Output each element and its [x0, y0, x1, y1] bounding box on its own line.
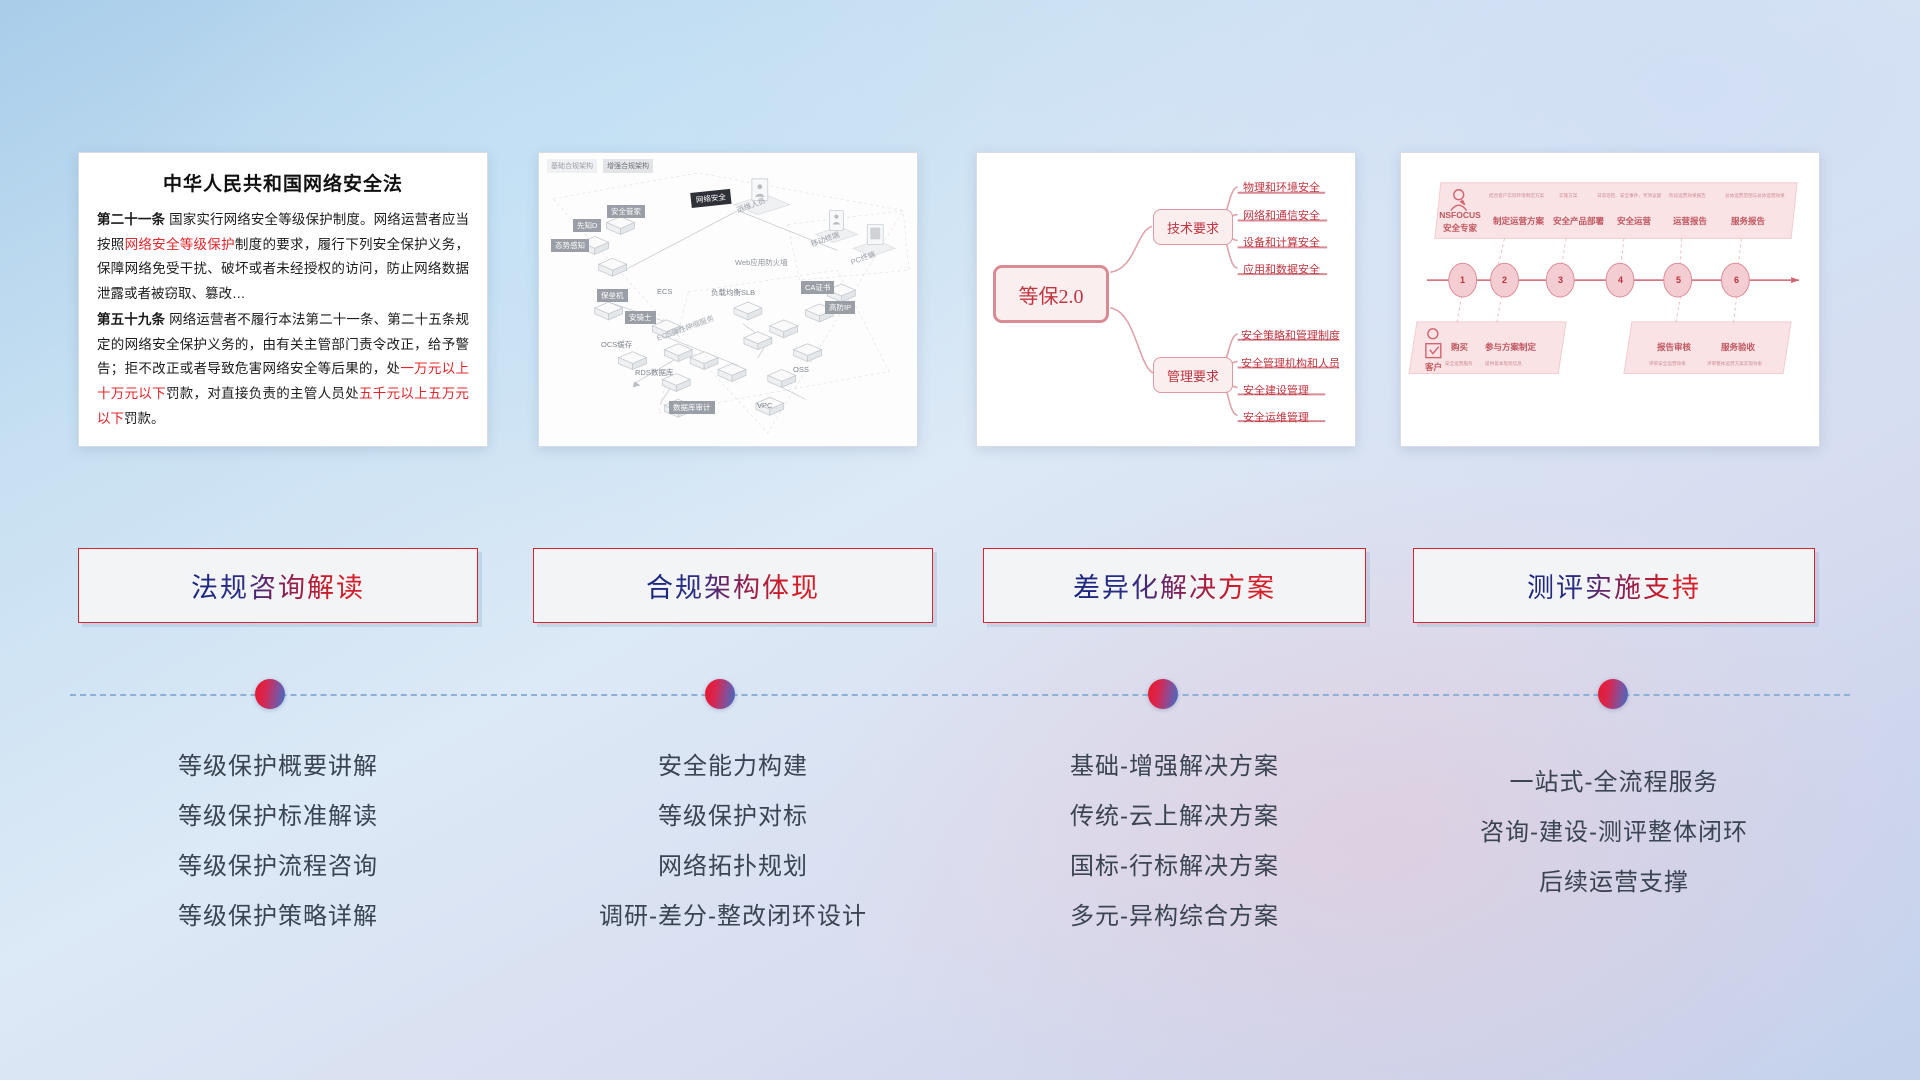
arch-node-ecs: ECS: [657, 287, 672, 296]
arch-node-rds-database: RDS数据库: [635, 367, 673, 378]
roadmap-bottom-sub-1: 安全运营服务: [1445, 361, 1473, 367]
mindmap-leaf-policy-system: 安全策略和管理制度: [1241, 327, 1340, 345]
article-21-label: 第二十一条: [97, 212, 165, 227]
list-item: 等级保护流程咨询: [78, 842, 478, 892]
law-article-59: 第五十九条 网络运营者不履行本法第二十一条、第二十五条规定的网络安全保护义务的，…: [97, 308, 469, 431]
headline-box-differentiated-solution[interactable]: 差异化解决方案: [983, 548, 1366, 623]
roadmap-top-main-1: 制定运营方案: [1493, 215, 1544, 227]
arch-node-slb: 负载均衡SLB: [711, 287, 755, 298]
arch-node-ocs-cache: OCS缓存: [601, 339, 632, 350]
feature-list-column-4: 一站式-全流程服务 咨询-建设-测评整体闭环 后续运营支撑: [1413, 758, 1815, 908]
mindmap-diagram: 等保2.0 技术要求 管理要求 物理和环境安全 网络和通信安全 设备和计算安全 …: [977, 153, 1355, 446]
roadmap-top-main-4: 运营报告: [1673, 215, 1707, 227]
roadmap-top-sub-1: 结合客户实际环境制定方案: [1489, 193, 1544, 199]
arch-node-situation-awareness: 态势感知: [551, 239, 589, 252]
list-item: 安全能力构建: [533, 742, 933, 792]
roadmap-expert-label-2: 安全专家: [1437, 222, 1483, 234]
mindmap-branch-management: 管理要求: [1153, 357, 1233, 393]
article-59-text-2: 罚款，对直接负责的主管人员处: [166, 386, 359, 401]
arch-node-xianzhi: 先知D: [573, 219, 601, 232]
mindmap-leaf-network-comm: 网络和通信安全: [1243, 207, 1320, 225]
mindmap-root-node: 等保2.0: [993, 265, 1109, 323]
list-item: 调研-差分-整改闭环设计: [533, 892, 933, 942]
list-item: 等级保护对标: [533, 792, 933, 842]
timeline-dot-1: [255, 679, 285, 709]
roadmap-step-2: 2: [1502, 275, 1507, 285]
arch-node-anti-ddos-ip: 高防IP: [825, 301, 855, 314]
list-item: 等级保护标准解读: [78, 792, 478, 842]
timeline-dot-3: [1148, 679, 1178, 709]
list-item: 多元-异构综合方案: [983, 892, 1366, 942]
article-59-text-3: 罚款。: [124, 411, 165, 426]
timeline-dashed-line: [70, 694, 1850, 696]
list-item: 国标-行标解决方案: [983, 842, 1366, 892]
roadmap-step-4: 4: [1618, 275, 1623, 285]
headline-box-evaluation-support[interactable]: 测评实施支持: [1413, 548, 1815, 623]
roadmap-step-1: 1: [1460, 275, 1465, 285]
mindmap-branch-technical: 技术要求: [1153, 209, 1233, 245]
list-item: 咨询-建设-测评整体闭环: [1413, 808, 1815, 858]
list-item: 一站式-全流程服务: [1413, 758, 1815, 808]
roadmap-bottom-sub-2: 提供基本现状信息: [1485, 361, 1522, 367]
mindmap-leaf-ops-mgmt: 安全运维管理: [1243, 409, 1309, 427]
headline-label-2: 合规架构体现: [646, 566, 820, 605]
feature-list-column-1: 等级保护概要讲解 等级保护标准解读 等级保护流程咨询 等级保护策略详解: [78, 742, 478, 942]
mindmap-leaf-app-data: 应用和数据安全: [1243, 261, 1320, 279]
roadmap-expert-label-1: NSFOCUS: [1437, 211, 1483, 220]
roadmap-top-sub-5: 总体运营范围与总体运营效果: [1725, 193, 1785, 199]
law-document-body: 中华人民共和国网络安全法 第二十一条 国家实行网络安全等级保护制度。网络运营者应…: [79, 153, 487, 441]
headline-box-compliance-architecture[interactable]: 合规架构体现: [533, 548, 933, 623]
headline-label-3: 差异化解决方案: [1073, 566, 1276, 605]
roadmap-bottom-main-2: 参与方案制定: [1485, 341, 1536, 353]
mindmap-leaf-physical-env: 物理和环境安全: [1243, 179, 1320, 197]
roadmap-customer-label: 客户: [1425, 361, 1442, 373]
card-mindmap: 等保2.0 技术要求 管理要求 物理和环境安全 网络和通信安全 设备和计算安全 …: [976, 152, 1356, 447]
mindmap-leaf-build-mgmt: 安全建设管理: [1243, 382, 1309, 400]
roadmap-step-6: 6: [1734, 275, 1739, 285]
arch-node-vpc: VPC: [757, 401, 772, 410]
article-59-label: 第五十九条: [97, 312, 165, 327]
architecture-diagram: 基础合规架构 增强合规架构: [539, 153, 917, 446]
roadmap-step-3: 3: [1558, 275, 1563, 285]
list-item: 后续运营支撑: [1413, 858, 1815, 908]
roadmap-top-sub-2: 实施方案: [1559, 193, 1577, 199]
roadmap-step-5: 5: [1676, 275, 1681, 285]
card-cloud-architecture: 基础合规架构 增强合规架构: [538, 152, 918, 447]
card-law-document: 中华人民共和国网络安全法 第二十一条 国家实行网络安全等级保护制度。网络运营者应…: [78, 152, 488, 447]
roadmap-bottom-main-4: 服务验收: [1721, 341, 1755, 353]
law-article-21: 第二十一条 国家实行网络安全等级保护制度。网络运营者应当按照网络安全等级保护制度…: [97, 208, 469, 306]
headline-label-4: 测评实施支持: [1527, 566, 1701, 605]
arch-node-waf: Web应用防火墙: [735, 257, 788, 268]
roadmap-bottom-main-3: 报告审核: [1657, 341, 1691, 353]
arch-node-oss: OSS: [793, 365, 809, 374]
roadmap-bottom-main-1: 购买: [1451, 341, 1468, 353]
timeline-dot-4: [1598, 679, 1628, 709]
roadmap-bottom-sub-3: 评审安全运营效果: [1649, 361, 1686, 367]
list-item: 等级保护概要讲解: [78, 742, 478, 792]
roadmap-top-sub-3: 日常巡检、安全事件、专项议题: [1597, 193, 1661, 199]
card-service-roadmap: NSFOCUS 安全专家 客户 结合客户实际环境制定方案 制定运营方案 实施方案…: [1400, 152, 1820, 447]
slide-canvas: 中华人民共和国网络安全法 第二十一条 国家实行网络安全等级保护制度。网络运营者应…: [0, 0, 1920, 1080]
mindmap-leaf-org-personnel: 安全管理机构和人员: [1241, 355, 1340, 373]
headline-label-1: 法规咨询解读: [191, 566, 365, 605]
feature-list-column-2: 安全能力构建 等级保护对标 网络拓扑规划 调研-差分-整改闭环设计: [533, 742, 933, 942]
roadmap-top-main-2: 安全产品部署: [1553, 215, 1604, 227]
arch-node-anqishi: 安骑士: [625, 311, 656, 324]
article-21-highlight: 网络安全等级保护: [125, 237, 235, 252]
arch-node-ca-certificate: CA证书: [801, 281, 834, 294]
law-title: 中华人民共和国网络安全法: [97, 169, 469, 196]
timeline-dot-2: [705, 679, 735, 709]
mindmap-leaf-device-compute: 设备和计算安全: [1243, 234, 1320, 252]
list-item: 等级保护策略详解: [78, 892, 478, 942]
roadmap-top-main-5: 服务报告: [1731, 215, 1765, 227]
list-item: 网络拓扑规划: [533, 842, 933, 892]
roadmap-bottom-sub-4: 评审整体运营方案实现效果: [1707, 361, 1762, 367]
roadmap-diagram: NSFOCUS 安全专家 客户 结合客户实际环境制定方案 制定运营方案 实施方案…: [1401, 153, 1819, 446]
arch-node-security-butler: 安全管家: [607, 205, 645, 218]
headline-box-regulation-consulting[interactable]: 法规咨询解读: [78, 548, 478, 623]
list-item: 基础-增强解决方案: [983, 742, 1366, 792]
roadmap-top-sub-4: 阶段运营效果报告: [1669, 193, 1706, 199]
list-item: 传统-云上解决方案: [983, 792, 1366, 842]
arch-node-db-audit: 数据库审计: [669, 401, 715, 414]
roadmap-top-main-3: 安全运营: [1617, 215, 1651, 227]
arch-node-bastion-host: 保垒机: [597, 289, 628, 302]
feature-list-column-3: 基础-增强解决方案 传统-云上解决方案 国标-行标解决方案 多元-异构综合方案: [983, 742, 1366, 942]
